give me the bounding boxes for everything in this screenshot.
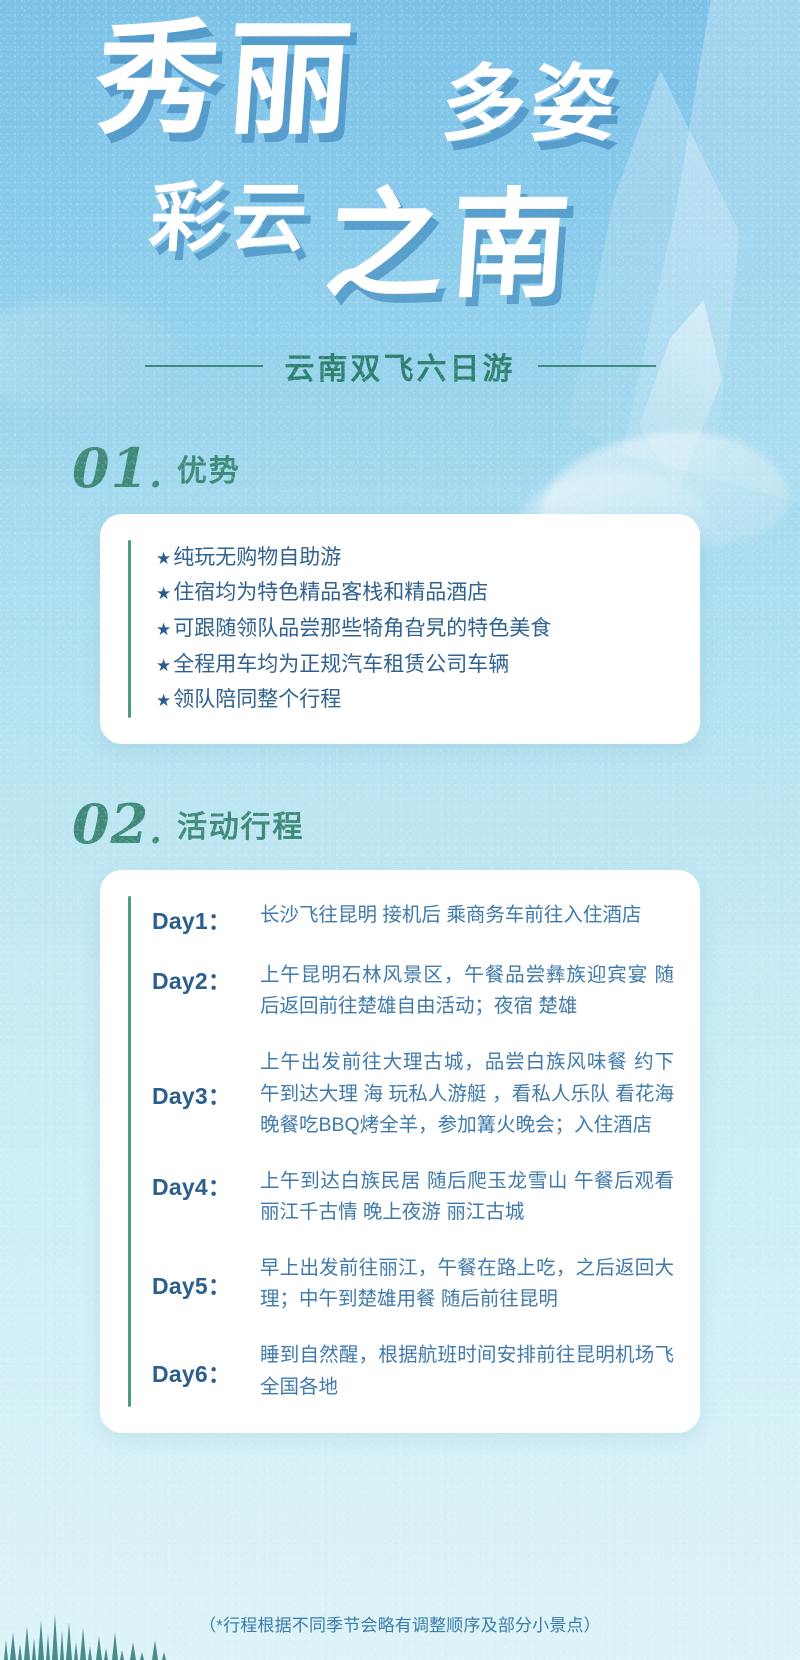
subtitle-row: 云南双飞六日游 xyxy=(0,344,800,388)
title-line2-a: 彩云 xyxy=(147,180,313,256)
itinerary-card: Day1： 长沙飞往昆明 接机后 乘商务车前往入住酒店 Day2： 上午昆明石林… xyxy=(100,870,700,1433)
day-description: 长沙飞往昆明 接机后 乘商务车前往入住酒店 xyxy=(260,900,674,932)
star-icon: ★ xyxy=(156,652,171,681)
day-description: 早上出发前往丽江，午餐在路上吃，之后返回大理；中午到楚雄用餐 随后前往昆明 xyxy=(260,1253,674,1316)
day-label: Day3： xyxy=(152,1077,260,1111)
table-row: Day6： 睡到自然醒，根据航班时间安排前往昆明机场飞全国各地 xyxy=(152,1340,674,1403)
section-header-itinerary: 02. 活动行程 xyxy=(0,800,800,850)
title-line2-b: 之南 xyxy=(322,186,580,304)
day-label: Day2： xyxy=(152,960,260,996)
star-icon: ★ xyxy=(156,545,171,574)
section-title-advantages: 优势 xyxy=(177,446,241,494)
itinerary-list: Day1： 长沙飞往昆明 接机后 乘商务车前往入住酒店 Day2： 上午昆明石林… xyxy=(118,896,674,1403)
day-label: Day5： xyxy=(152,1267,260,1301)
advantage-text: 可跟随领队品尝那些犄角旮旯的特色美食 xyxy=(173,611,551,647)
subtitle-rule-right xyxy=(538,365,656,367)
section-title-itinerary: 活动行程 xyxy=(177,802,304,850)
section-number-02: 02. xyxy=(72,800,163,850)
advantages-card: ★ 纯玩无购物自助游 ★ 住宿均为特色精品客栈和精品酒店 ★ 可跟随领队品尝那些… xyxy=(100,514,700,744)
star-icon: ★ xyxy=(156,580,171,609)
advantage-text: 住宿均为特色精品客栈和精品酒店 xyxy=(173,575,488,611)
list-item: ★ 纯玩无购物自助游 xyxy=(156,540,674,576)
title-line1-a: 秀丽 xyxy=(92,18,364,142)
list-item: ★ 领队陪同整个行程 xyxy=(156,682,674,718)
table-row: Day1： 长沙飞往昆明 接机后 乘商务车前往入住酒店 xyxy=(152,900,674,936)
day-label: Day6： xyxy=(152,1355,260,1389)
advantage-text: 纯玩无购物自助游 xyxy=(173,540,341,576)
subtitle-text: 云南双飞六日游 xyxy=(285,344,516,388)
section-number-01: 01. xyxy=(72,444,163,494)
day-description: 睡到自然醒，根据航班时间安排前往昆明机场飞全国各地 xyxy=(260,1340,674,1403)
day-label: Day4： xyxy=(152,1166,260,1202)
itinerary-accent-bar xyxy=(128,896,131,1407)
advantage-text: 领队陪同整个行程 xyxy=(173,682,341,718)
day-label: Day1： xyxy=(152,900,260,936)
table-row: Day2： 上午昆明石林风景区，午餐品尝彝族迎宾宴 随后返回前往楚雄自由活动；夜… xyxy=(152,960,674,1023)
subtitle-rule-left xyxy=(145,365,263,367)
day-description: 上午昆明石林风景区，午餐品尝彝族迎宾宴 随后返回前往楚雄自由活动；夜宿 楚雄 xyxy=(260,960,674,1023)
advantages-accent-bar xyxy=(128,540,131,718)
table-row: Day3： 上午出发前往大理古城，品尝白族风味餐 约下午到达大理 海 玩私人游艇… xyxy=(152,1047,674,1142)
list-item: ★ 可跟随领队品尝那些犄角旮旯的特色美食 xyxy=(156,611,674,647)
table-row: Day4： 上午到达白族民居 随后爬玉龙雪山 午餐后观看丽江千古情 晚上夜游 丽… xyxy=(152,1166,674,1229)
table-row: Day5： 早上出发前往丽江，午餐在路上吃，之后返回大理；中午到楚雄用餐 随后前… xyxy=(152,1253,674,1316)
day-description: 上午到达白族民居 随后爬玉龙雪山 午餐后观看丽江千古情 晚上夜游 丽江古城 xyxy=(260,1166,674,1229)
day-description: 上午出发前往大理古城，品尝白族风味餐 约下午到达大理 海 玩私人游艇 ，看私人乐… xyxy=(260,1047,674,1142)
list-item: ★ 住宿均为特色精品客栈和精品酒店 xyxy=(156,575,674,611)
section-header-advantages: 01. 优势 xyxy=(0,444,800,494)
star-icon: ★ xyxy=(156,616,171,645)
advantages-list: ★ 纯玩无购物自助游 ★ 住宿均为特色精品客栈和精品酒店 ★ 可跟随领队品尝那些… xyxy=(118,540,674,718)
grass-icon xyxy=(0,1602,250,1660)
title-line1-b: 多姿 xyxy=(439,62,623,146)
poster-root: 秀丽 多姿 彩云 之南 云南双飞六日游 01. 优势 ★ 纯玩无购物自助游 ★ … xyxy=(0,0,800,1660)
hero-title-block: 秀丽 多姿 彩云 之南 xyxy=(0,0,800,340)
list-item: ★ 全程用车均为正规汽车租赁公司车辆 xyxy=(156,647,674,683)
star-icon: ★ xyxy=(156,687,171,716)
advantage-text: 全程用车均为正规汽车租赁公司车辆 xyxy=(173,647,509,683)
